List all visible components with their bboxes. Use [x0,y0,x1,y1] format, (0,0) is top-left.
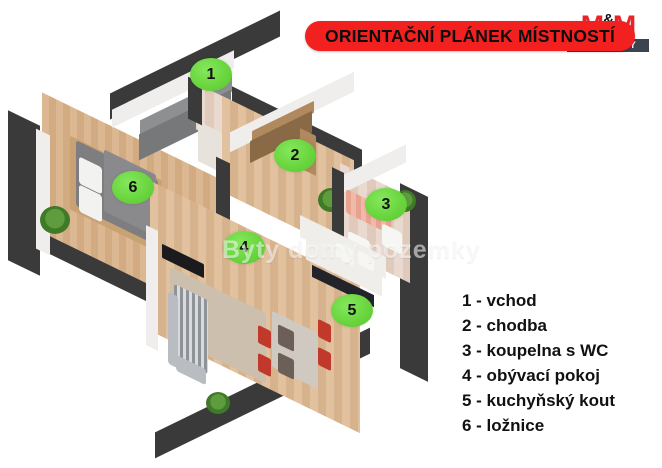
room-marker-2[interactable]: 2 [274,139,316,172]
room-marker-1[interactable]: 1 [190,58,232,91]
room-marker-3-label: 3 [382,196,391,214]
legend-item-1: 1 - vchod [462,288,615,313]
room-marker-6[interactable]: 6 [112,171,154,204]
room-marker-5[interactable]: 5 [331,294,373,327]
floorplan-isometric-view: 1 2 3 4 5 6 [0,40,470,468]
living-plant [206,392,230,414]
room-marker-4[interactable]: 4 [223,231,265,264]
bedroom-inner-wall-left [36,129,50,256]
floorplan-page: 1 2 3 4 5 6 Byty domy pozemky ORIENTAČNÍ… [0,0,662,468]
room-legend: 1 - vchod 2 - chodba 3 - koupelna s WC 4… [462,288,615,438]
room-marker-2-label: 2 [291,147,300,165]
title-banner-text: ORIENTAČNÍ PLÁNEK MÍSTNOSTÍ [325,26,615,47]
room-marker-6-label: 6 [129,179,138,197]
room-marker-5-label: 5 [348,302,357,320]
floorplan-image: 1 2 3 4 5 6 [0,40,470,468]
legend-item-2: 2 - chodba [462,313,615,338]
legend-item-3: 3 - koupelna s WC [462,338,615,363]
legend-item-5: 5 - kuchyňský kout [462,388,615,413]
room-marker-3[interactable]: 3 [365,188,407,221]
title-banner: ORIENTAČNÍ PLÁNEK MÍSTNOSTÍ [305,21,635,51]
bedroom-plant [40,206,70,234]
room-marker-1-label: 1 [207,66,216,84]
legend-item-4: 4 - obývací pokoj [462,363,615,388]
room-marker-4-label: 4 [240,239,249,257]
living-wall-left [146,225,158,351]
legend-item-6: 6 - ložnice [462,413,615,438]
